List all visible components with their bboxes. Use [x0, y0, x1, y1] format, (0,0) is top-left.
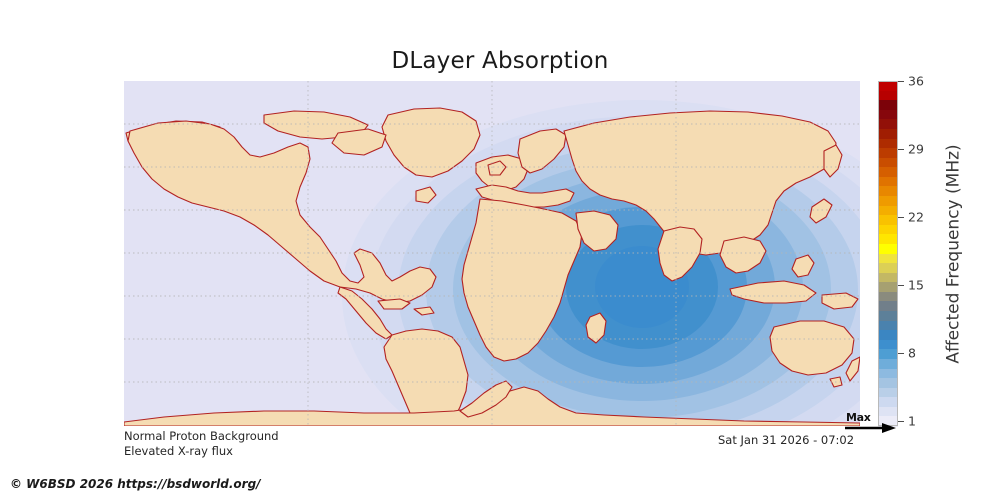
world-map-panel[interactable] — [124, 81, 860, 426]
colorbar-tick-label: 22 — [908, 209, 924, 224]
colorbar-tick-label: 36 — [908, 74, 924, 89]
colorbar-tick-label: 15 — [908, 277, 924, 292]
colorbar-axis-title-text: Affected Frequency (MHz) — [944, 144, 964, 363]
colorbar-gradient — [878, 81, 898, 426]
map-svg — [124, 81, 860, 426]
colorbar-tick-mark — [898, 285, 904, 286]
colorbar-tick-label: 1 — [908, 413, 916, 428]
figure-root: DLayer Absorption — [0, 0, 1000, 500]
colorbar-axis-title: Affected Frequency (MHz) — [940, 81, 968, 426]
colorbar[interactable]: 3629221581 Max — [878, 81, 898, 426]
colorbar-tick-label: 29 — [908, 141, 924, 156]
colorbar-tick-mark — [898, 81, 904, 82]
colorbar-tick-mark — [898, 353, 904, 354]
timestamp-label: Sat Jan 31 2026 - 07:02 — [718, 433, 854, 447]
page-title: DLayer Absorption — [0, 48, 1000, 74]
credit-line: © W6BSD 2026 https://bsdworld.org/ — [10, 477, 261, 491]
colorbar-tick-label: 8 — [908, 345, 916, 360]
footnote-xray-flux: Elevated X-ray flux — [124, 444, 233, 458]
colorbar-tick-mark — [898, 217, 904, 218]
colorbar-tick-mark — [898, 149, 904, 150]
footnote-proton-background: Normal Proton Background — [124, 429, 279, 443]
colorbar-tick-mark — [898, 421, 904, 422]
